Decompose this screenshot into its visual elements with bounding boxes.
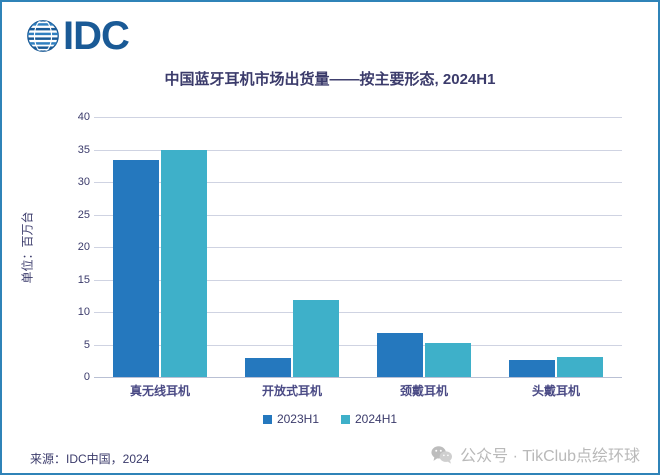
legend-label: 2023H1 [277,412,319,426]
bar[interactable] [425,343,471,377]
x-tick-label: 颈戴耳机 [358,382,490,399]
legend-label: 2024H1 [355,412,397,426]
y-tick-label: 20 [56,241,90,253]
bar[interactable] [509,360,555,377]
y-tick-label: 35 [56,144,90,156]
bar[interactable] [293,300,339,377]
chart-legend: 2023H12024H1 [2,412,658,426]
y-tick-label: 30 [56,176,90,188]
bar-group [226,117,358,377]
y-tick-label: 5 [56,339,90,351]
y-axis-ticks: 4035302520151050 [50,117,90,377]
bar[interactable] [245,358,291,378]
y-axis-title-label: 单位：百万台 [19,211,36,283]
legend-swatch-icon [263,415,272,424]
chart-title: 中国蓝牙耳机市场出货量——按主要形态, 2024H1 [2,68,658,89]
y-tick-label: 10 [56,306,90,318]
plot-area [94,117,622,377]
x-tick-label: 头戴耳机 [490,382,622,399]
idc-logo-text: IDC [63,16,129,56]
legend-item[interactable]: 2024H1 [341,412,397,426]
x-tick-label: 真无线耳机 [94,382,226,399]
wechat-icon [431,445,453,464]
bar-group [358,117,490,377]
bar-group [490,117,622,377]
legend-swatch-icon [341,415,350,424]
watermark: 公众号 · TikClub点绘环球 [431,442,640,466]
bar[interactable] [377,333,423,377]
y-axis-title: 单位：百万台 [16,117,38,377]
chart-screenshot: IDC 中国蓝牙耳机市场出货量——按主要形态, 2024H1 单位：百万台 40… [0,0,660,475]
watermark-text: 公众号 · TikClub点绘环球 [460,442,640,466]
gridline [94,377,622,378]
legend-item[interactable]: 2023H1 [263,412,319,426]
x-axis-labels: 真无线耳机开放式耳机颈戴耳机头戴耳机 [94,382,622,399]
y-tick-label: 40 [56,111,90,123]
y-tick-label: 25 [56,209,90,221]
y-tick-label: 15 [56,274,90,286]
bar[interactable] [161,150,207,378]
bar[interactable] [113,160,159,377]
x-tick-label: 开放式耳机 [226,382,358,399]
bar-group [94,117,226,377]
bar-groups [94,117,622,377]
y-tick-label: 0 [56,371,90,383]
source-note: 来源：IDC中国，2024 [30,450,149,467]
idc-logo: IDC [24,14,129,58]
bar[interactable] [557,357,603,377]
globe-icon [24,17,62,55]
